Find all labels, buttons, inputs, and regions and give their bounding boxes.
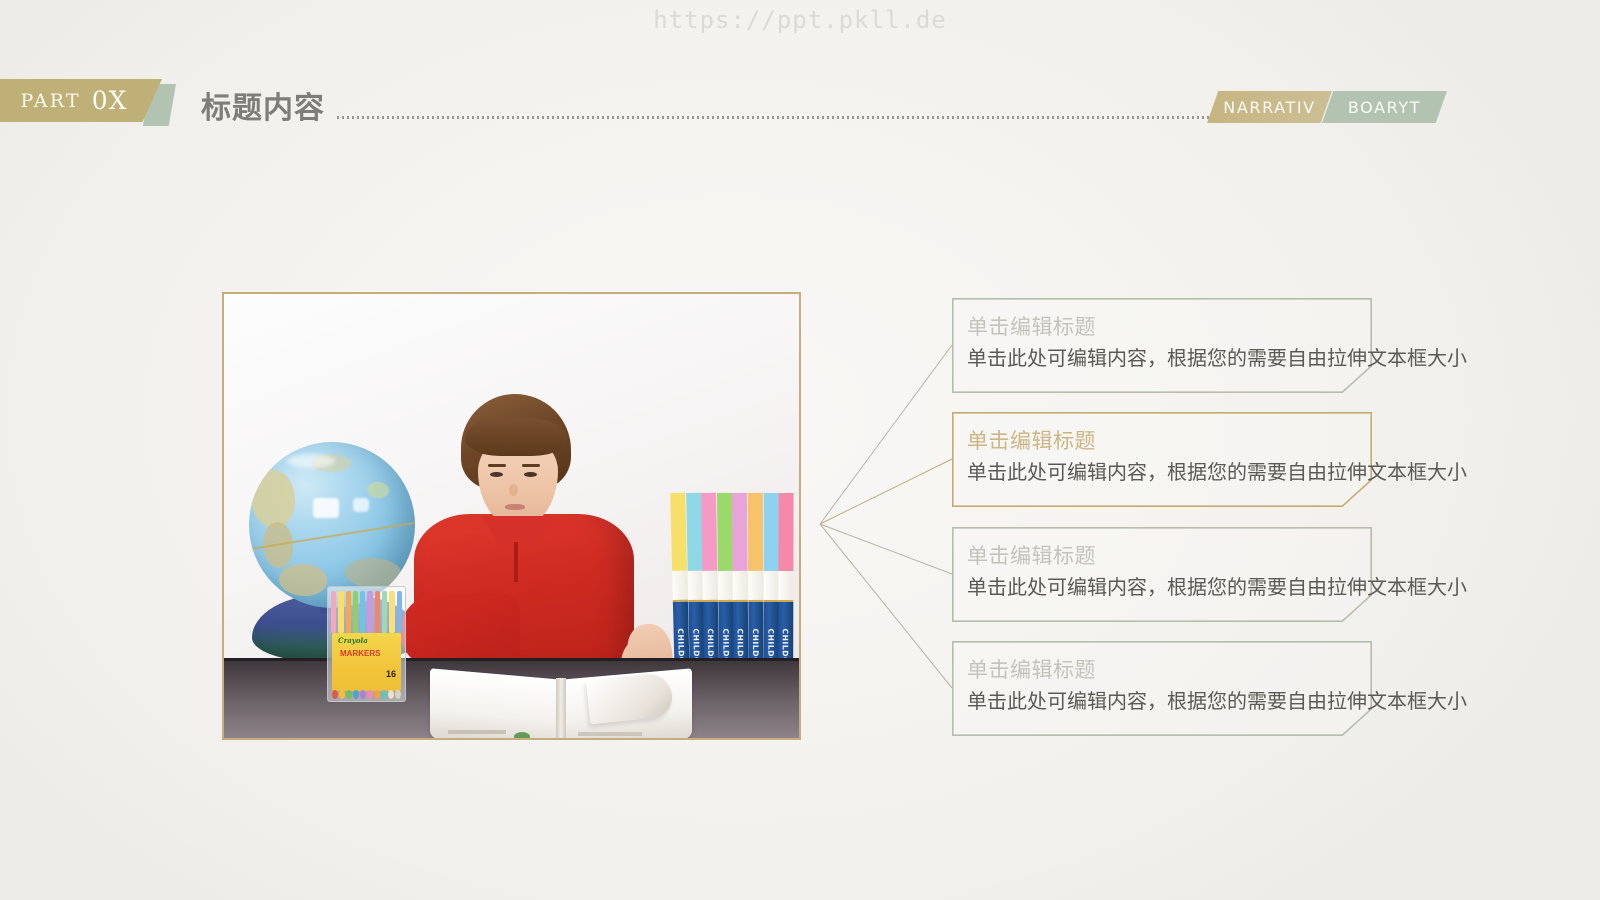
book-mid-band: [703, 571, 718, 602]
boy-eyebrow-left: [488, 464, 506, 467]
crayon-sticks: [331, 591, 402, 633]
header-tag-narrativ-label: NARRATIV: [1223, 98, 1315, 117]
header-tag-boaryt-label: BOARYT: [1348, 98, 1421, 117]
boy-mouth: [505, 504, 525, 510]
book-top-band: [779, 493, 794, 571]
crayon-stick: [360, 591, 365, 633]
crayon-color-dots: [332, 690, 401, 699]
crayon-stick: [382, 591, 387, 633]
crayon-stick: [389, 591, 394, 633]
crayon-stick: [346, 591, 351, 633]
boy-nose: [509, 484, 518, 496]
crayon-box: Crayola MARKERS 16: [327, 586, 406, 702]
book-mid-band: [748, 571, 763, 602]
crayon-label: Crayola MARKERS 16: [332, 633, 401, 691]
callout-1-title: 单击编辑标题: [967, 314, 1527, 340]
book-top-band: [686, 493, 702, 571]
crayon-dot: [360, 690, 366, 699]
boy-eye-left: [490, 472, 503, 477]
crayon-dot: [367, 690, 373, 699]
boy-placket: [514, 542, 518, 582]
callout-4-body: 单击此处可编辑内容，根据您的需要自由拉伸文本框大小: [967, 688, 1527, 714]
callout-4-text: 单击编辑标题 单击此处可编辑内容，根据您的需要自由拉伸文本框大小: [967, 657, 1527, 714]
book-mid-band: [733, 571, 748, 602]
crayon-dot: [374, 690, 380, 699]
crayon-dot: [346, 690, 352, 699]
page-title: 标题内容: [201, 83, 325, 127]
callout-3-body: 单击此处可编辑内容，根据您的需要自由拉伸文本框大小: [967, 574, 1527, 600]
crayon-stick: [375, 591, 380, 633]
crayon-dot: [395, 690, 401, 699]
book-mid-band: [778, 571, 793, 602]
crayon-count-label: 16: [386, 669, 396, 679]
part-badge: PART 0X: [0, 79, 162, 122]
callout-1-body: 单击此处可编辑内容，根据您的需要自由拉伸文本框大小: [967, 345, 1527, 371]
boy-eyebrow-right: [522, 464, 540, 467]
slide-canvas: https://ppt.pkll.de PART 0X 标题内容 NARRATI…: [0, 0, 1600, 900]
open-book: [430, 674, 692, 738]
callout-card-3[interactable]: 单击编辑标题 单击此处可编辑内容，根据您的需要自由拉伸文本框大小: [952, 527, 1372, 622]
callout-card-2[interactable]: 单击编辑标题 单击此处可编辑内容，根据您的需要自由拉伸文本框大小: [952, 412, 1372, 507]
header-tag-boaryt[interactable]: BOARYT: [1322, 91, 1447, 123]
book-top-band: [748, 493, 763, 571]
crayon-brand-label: Crayola: [338, 636, 368, 645]
crayon-stick: [338, 591, 343, 633]
title-divider: [337, 116, 1212, 119]
crayon-dot: [353, 690, 359, 699]
book-top-band: [717, 493, 733, 571]
boy-eye-right: [524, 472, 537, 477]
header-tag-narrativ[interactable]: NARRATIV: [1207, 91, 1332, 123]
crayon-stick: [353, 591, 358, 633]
book-mid-band: [763, 571, 778, 602]
crayon-dot: [388, 690, 394, 699]
globe-icon: [249, 442, 415, 608]
book-mid-band: [687, 571, 702, 602]
callout-2-title: 单击编辑标题: [967, 428, 1527, 454]
part-number: 0X: [92, 86, 128, 115]
watermark-url: https://ppt.pkll.de: [0, 6, 1600, 34]
crayon-dot: [339, 690, 345, 699]
callout-3-title: 单击编辑标题: [967, 543, 1527, 569]
book-top-band: [701, 493, 717, 571]
photo-boy-reading: CHILDCRAFTCHILDCRAFTCHILDCRAFTCHILDCRAFT…: [224, 294, 799, 738]
photo-frame: CHILDCRAFTCHILDCRAFTCHILDCRAFTCHILDCRAFT…: [222, 292, 801, 740]
crayon-stick: [397, 591, 402, 633]
book-top-band: [763, 493, 778, 571]
callout-1-text: 单击编辑标题 单击此处可编辑内容，根据您的需要自由拉伸文本框大小: [967, 314, 1527, 371]
callout-2-text: 单击编辑标题 单击此处可编辑内容，根据您的需要自由拉伸文本框大小: [967, 428, 1527, 485]
crayon-stick: [367, 591, 372, 633]
book-mid-band: [718, 571, 733, 602]
crayon-stick: [331, 591, 336, 633]
book-mid-band: [672, 571, 687, 602]
callout-card-4[interactable]: 单击编辑标题 单击此处可编辑内容，根据您的需要自由拉伸文本框大小: [952, 641, 1372, 736]
crayon-dot: [332, 690, 338, 699]
callout-4-title: 单击编辑标题: [967, 657, 1527, 683]
crayon-product-label: MARKERS: [340, 649, 380, 658]
callout-3-text: 单击编辑标题 单击此处可编辑内容，根据您的需要自由拉伸文本框大小: [967, 543, 1527, 600]
boy-fringe: [465, 418, 567, 456]
callout-2-body: 单击此处可编辑内容，根据您的需要自由拉伸文本框大小: [967, 459, 1527, 485]
book-top-band: [732, 493, 747, 571]
part-label: PART: [21, 90, 81, 112]
boy-arm: [400, 594, 520, 668]
crayon-dot: [381, 690, 387, 699]
callout-card-1[interactable]: 单击编辑标题 单击此处可编辑内容，根据您的需要自由拉伸文本框大小: [952, 298, 1372, 393]
book-top-band: [670, 493, 686, 571]
